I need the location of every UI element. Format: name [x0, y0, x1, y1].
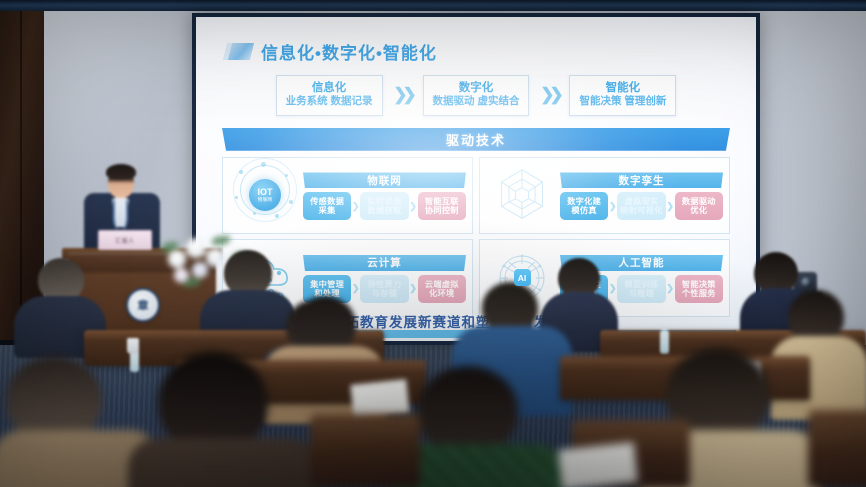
hex-mesh-art — [494, 167, 550, 223]
pill-arrow-icon: ❯ — [666, 201, 675, 212]
pill-line1: 数据分类 — [567, 280, 601, 289]
pill-line2: 化环境 — [429, 289, 454, 298]
stage-flow: 信息化 业务系统 数据记录 ❯❯ 数字化 数据驱动 虚实结合 ❯❯ 智能化 智能… — [212, 75, 740, 116]
stage-subtext: 业务系统 数据记录 — [286, 95, 373, 108]
slide-title: 信息化•数字化•智能化 — [261, 39, 437, 64]
pill-line2: 映射可视化 — [620, 206, 662, 215]
quadrant-pills: 数字化建 模仿真 ❯ 虚拟现实 映射可视化 ❯ 数据驱动 — [560, 192, 723, 220]
quadrant-body: 人工智能 数据分类 与聚类 ❯ 模型训练 与推理 — [560, 253, 723, 303]
quadrant-cloud-computing: CLOUD 云计算 集中管理 和处理 ❯ — [222, 239, 473, 317]
pill-line1: 云端虚拟 — [425, 280, 459, 289]
camera-lens — [801, 277, 812, 288]
pill-arrow-icon: ❯ — [608, 201, 617, 212]
quadrant-title: 云计算 — [303, 255, 466, 271]
projection-screen: 信息化•数字化•智能化 信息化 业务系统 数据记录 ❯❯ 数字化 数据驱动 虚实… — [196, 17, 756, 341]
camera-stand-pole — [804, 300, 807, 390]
pill-item: 智能互联 协同控制 — [418, 192, 466, 220]
pill-item: 云端虚拟 化环境 — [418, 275, 466, 303]
quadrant-iot: IOT 物联网 物联网 传感数据 采集 ❯ — [222, 157, 473, 235]
pill-item: 数据驱动 优化 — [675, 192, 723, 220]
pill-line2: 与聚类 — [571, 289, 596, 298]
pill-item: 模型训练 与推理 — [617, 275, 665, 303]
quadrant-title: 人工智能 — [560, 255, 723, 271]
pill-item: 数字化建 模仿真 — [560, 192, 608, 220]
chevron-right-icon-1: ❯❯ — [383, 85, 423, 105]
podium-emblem: 章 — [126, 288, 160, 322]
driver-tech-banner-wrap: 驱动技术 — [222, 128, 730, 151]
stage-box-intelligentization: 智能化 智能决策 管理创新 — [569, 75, 676, 116]
quadrant-body: 数字孪生 数字化建 模仿真 ❯ 虚拟现实 映射可视化 — [560, 170, 723, 220]
pill-item: 传感数据 采集 — [303, 192, 351, 220]
presentation-slide: 信息化•数字化•智能化 信息化 业务系统 数据记录 ❯❯ 数字化 数据驱动 虚实… — [196, 17, 756, 341]
quadrant-artificial-intelligence: AI 人工智能 数据分类 与聚类 ❯ — [479, 239, 730, 317]
pill-line1: 集中管理 — [310, 280, 344, 289]
quadrant-pills: 数据分类 与聚类 ❯ 模型训练 与推理 ❯ 智能决策 — [560, 275, 723, 303]
pill-item: 实时状态 数据获取 — [360, 192, 408, 220]
stage-heading: 数字化 — [433, 81, 520, 95]
stage-box-informatization: 信息化 业务系统 数据记录 — [276, 75, 383, 116]
slide-caption-bar — [216, 330, 736, 338]
ai-chip-badge: AI — [514, 269, 531, 286]
quadrant-pills: 集中管理 和处理 ❯ 弹性算力 与存储 ❯ 云端虚拟 — [303, 275, 466, 303]
technology-quadrant-grid: IOT 物联网 物联网 传感数据 采集 ❯ — [222, 157, 730, 317]
quadrant-pills: 传感数据 采集 ❯ 实时状态 数据获取 ❯ 智能互联 — [303, 192, 466, 220]
pill-line1: 模型训练 — [625, 280, 659, 289]
quadrant-title: 物联网 — [303, 172, 466, 188]
pill-line2: 个性服务 — [682, 289, 716, 298]
pill-line2: 采集 — [319, 206, 336, 215]
ai-art: AI — [494, 252, 550, 304]
flower-arrangement — [162, 232, 248, 294]
pill-item: 虚拟现实 映射可视化 — [617, 192, 665, 220]
pill-line2: 与存储 — [372, 289, 397, 298]
floor-carpet — [0, 345, 866, 487]
pill-item: 集中管理 和处理 — [303, 275, 351, 303]
iot-network-icon: IOT 物联网 — [227, 162, 303, 230]
pill-line2: 数据获取 — [368, 206, 402, 215]
pill-arrow-icon: ❯ — [351, 201, 360, 212]
pill-line2: 优化 — [690, 206, 707, 215]
hex-mesh-icon — [484, 162, 560, 230]
speaker-lanyard — [113, 200, 128, 230]
pill-item: 弹性算力 与存储 — [360, 275, 408, 303]
driver-tech-banner: 驱动技术 — [222, 128, 730, 151]
pill-line2: 和处理 — [314, 289, 339, 298]
conference-hall-photo: 信息化•数字化•智能化 信息化 业务系统 数据记录 ❯❯ 数字化 数据驱动 虚实… — [0, 0, 866, 487]
pill-arrow-icon: ❯ — [666, 283, 675, 294]
title-marker-icon — [228, 43, 254, 60]
wall-wood-panel — [0, 0, 44, 340]
ai-brain-icon: AI — [484, 244, 560, 312]
pill-arrow-icon: ❯ — [351, 283, 360, 294]
pill-line2: 与推理 — [629, 289, 654, 298]
pill-item: 智能决策 个性服务 — [675, 275, 723, 303]
pill-line1: 智能决策 — [682, 280, 716, 289]
stage-heading: 信息化 — [286, 81, 373, 95]
pill-line2: 模仿真 — [571, 206, 596, 215]
chevron-right-icon-2: ❯❯ — [529, 85, 569, 105]
pill-item: 数据分类 与聚类 — [560, 275, 608, 303]
pill-line1: 弹性算力 — [368, 280, 402, 289]
slide-caption: 拓教育发展新赛道和塑造教育发展新优势 — [196, 311, 756, 331]
quadrant-body: 云计算 集中管理 和处理 ❯ 弹性算力 与存储 — [303, 253, 466, 303]
quadrant-title: 数字孪生 — [560, 172, 723, 188]
quadrant-body: 物联网 传感数据 采集 ❯ 实时状态 数据获取 — [303, 170, 466, 220]
pill-arrow-icon: ❯ — [409, 201, 418, 212]
speaker-hair — [106, 164, 136, 180]
pill-line2: 协同控制 — [425, 206, 459, 215]
pill-arrow-icon: ❯ — [608, 283, 617, 294]
quadrant-digital-twin: 数字孪生 数字化建 模仿真 ❯ 虚拟现实 映射可视化 — [479, 157, 730, 235]
podium-nameplate: 汇报人 — [98, 230, 152, 250]
slide-title-row: 信息化•数字化•智能化 — [230, 39, 740, 64]
podium-group: 汇报人 章 — [60, 160, 230, 355]
stage-box-digitalization: 数字化 数据驱动 虚实结合 — [423, 75, 530, 116]
stage-subtext: 智能决策 管理创新 — [579, 95, 666, 108]
projection-screen-frame: 信息化•数字化•智能化 信息化 业务系统 数据记录 ❯❯ 数字化 数据驱动 虚实… — [192, 13, 760, 345]
stage-subtext: 数据驱动 虚实结合 — [433, 95, 520, 108]
pill-arrow-icon: ❯ — [409, 283, 418, 294]
stage-heading: 智能化 — [579, 81, 666, 95]
